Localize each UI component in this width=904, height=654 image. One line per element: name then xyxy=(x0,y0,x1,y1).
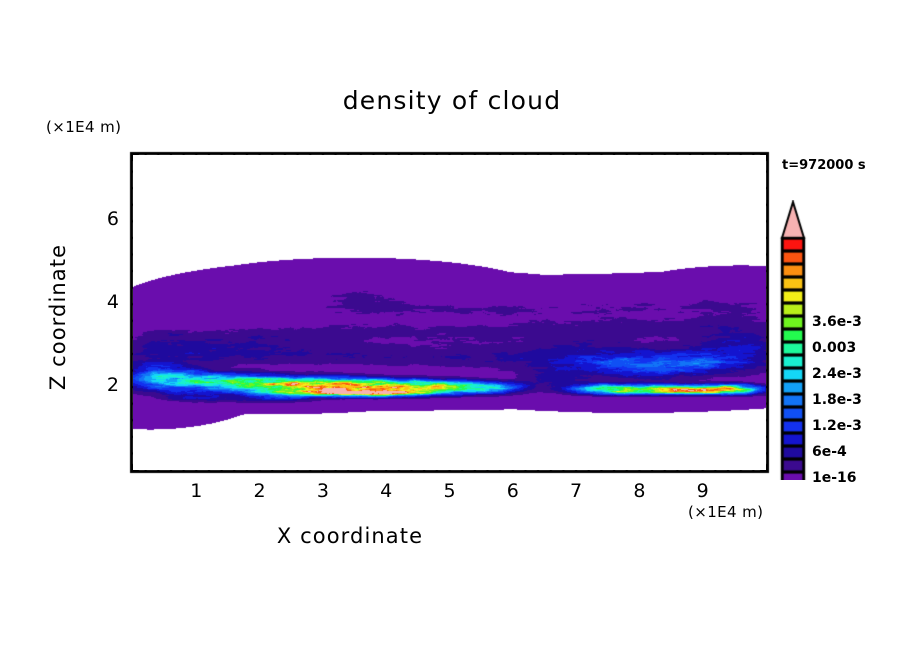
y-tick-label: 2 xyxy=(89,374,119,396)
colorbar xyxy=(775,200,815,480)
y-tick-label: 6 xyxy=(89,208,119,230)
x-tick-label: 2 xyxy=(240,480,280,502)
x-axis-label: X coordinate xyxy=(0,524,700,548)
colorbar-tick-label: 1.8e-3 xyxy=(812,392,862,408)
chart-title: density of cloud xyxy=(0,86,904,115)
x-tick-label: 3 xyxy=(303,480,343,502)
colorbar-tick-label: 0.003 xyxy=(812,340,856,356)
contour-field xyxy=(133,155,766,470)
colorbar-tick-label: 2.4e-3 xyxy=(812,366,862,382)
x-tick-label: 1 xyxy=(176,480,216,502)
y-tick-label: 4 xyxy=(89,291,119,313)
x-tick-label: 8 xyxy=(619,480,659,502)
plot-figure: density of cloud (×1E4 m) (×1E4 m) X coo… xyxy=(0,0,904,654)
x-tick-label: 7 xyxy=(556,480,596,502)
colorbar-tick-label: 1e-16 xyxy=(812,470,857,486)
colorbar-tick-label: 3.6e-3 xyxy=(812,314,862,330)
x-axis-units: (×1E4 m) xyxy=(688,503,763,521)
time-annotation: t=972000 s xyxy=(782,158,866,173)
x-tick-label: 5 xyxy=(430,480,470,502)
x-tick-label: 9 xyxy=(683,480,723,502)
colorbar-tick-label: 6e-4 xyxy=(812,444,847,460)
y-axis-label: Z coordinate xyxy=(46,217,70,417)
z-axis-units: (×1E4 m) xyxy=(46,118,121,136)
x-tick-label: 4 xyxy=(366,480,406,502)
x-tick-label: 6 xyxy=(493,480,533,502)
colorbar-tick-label: 1.2e-3 xyxy=(812,418,862,434)
